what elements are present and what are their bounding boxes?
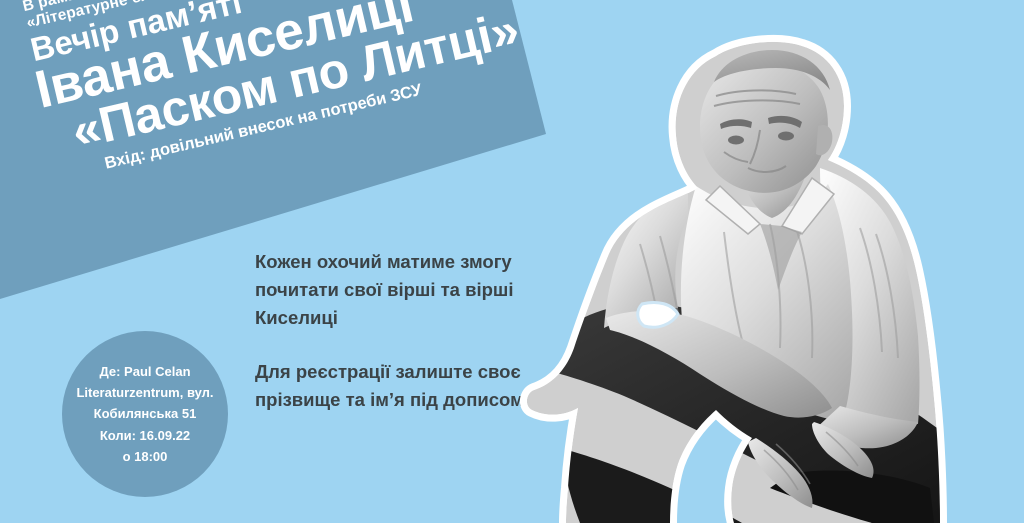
info-circle-lines: Де: Paul Celan Literaturzentrum, вул. Ко… bbox=[70, 361, 219, 466]
face bbox=[700, 60, 828, 193]
info-circle: Де: Paul Celan Literaturzentrum, вул. Ко… bbox=[62, 331, 228, 497]
poster-canvas: В рамках проєкту «Літературне благодійст… bbox=[0, 0, 1024, 523]
info-line-venue-address: Кобилянська 51 bbox=[76, 403, 213, 424]
info-line-time: о 18:00 bbox=[76, 446, 213, 467]
paragraph-spacer bbox=[255, 332, 555, 358]
info-line-venue-name: Де: Paul Celan bbox=[76, 361, 213, 382]
body-copy: Кожен охочий матиме змогу почитати свої … bbox=[255, 248, 555, 415]
body-paragraph-1: Кожен охочий матиме змогу почитати свої … bbox=[255, 248, 555, 332]
info-line-venue-street: Literaturzentrum, вул. bbox=[76, 382, 213, 403]
body-paragraph-2: Для реєстрації залиште своє прізвище та … bbox=[255, 358, 555, 414]
portrait-photo bbox=[520, 18, 1024, 523]
info-line-date: Коли: 16.09.22 bbox=[76, 425, 213, 446]
